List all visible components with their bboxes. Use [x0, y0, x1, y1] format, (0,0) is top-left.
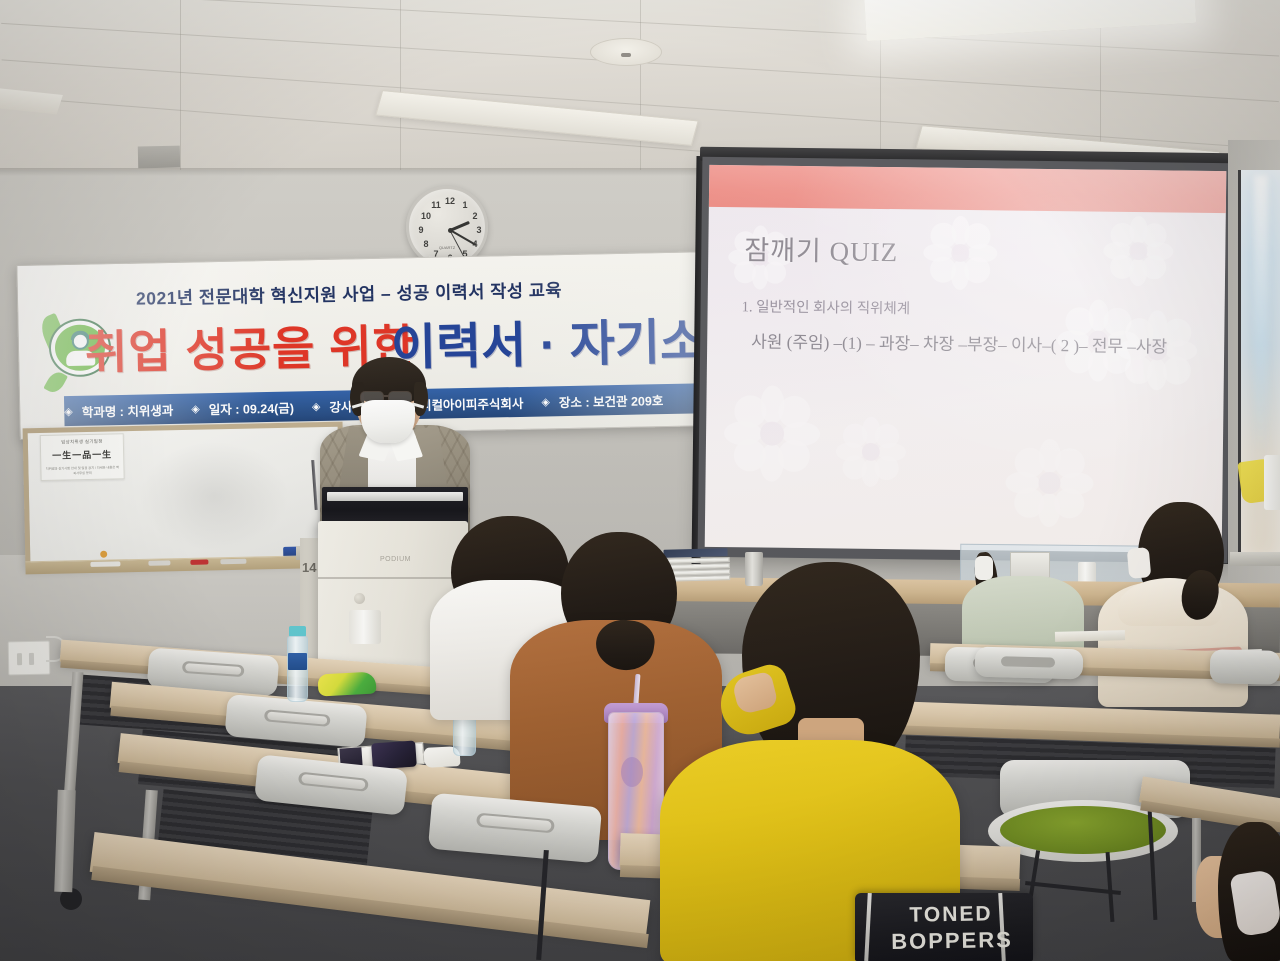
whiteboard-marker[interactable] — [148, 560, 170, 565]
whiteboard-notice: 임상치위생 실기일정 一生一品一生 치위생과 실기시험 안내 및 일정 공지 /… — [40, 433, 125, 481]
banner-info-date: 일자 : 09.24(금) — [209, 397, 295, 418]
flower-decoration-icon — [1103, 216, 1174, 287]
lecture-hall-photo: 12 1 2 3 4 5 6 7 8 9 10 11 QUARTZ 2021년 … — [0, 0, 1280, 961]
lectern-number-label: 14 — [302, 560, 316, 575]
slide-title: 잠깨기 QUIZ — [744, 228, 898, 269]
student-face-mask — [1127, 547, 1152, 579]
chair-back[interactable] — [1210, 649, 1280, 685]
bag-text-line-2: BOPPERS — [882, 927, 1022, 955]
diamond-icon: ◈ — [312, 399, 321, 412]
lectern-knob[interactable] — [354, 593, 365, 604]
chair-seat[interactable] — [1000, 806, 1166, 854]
presentation-slide: 잠깨기 QUIZ 1. 일반적인 회사의 직위체계 사원 (주임) –(1) –… — [705, 165, 1227, 553]
clock-number: 2 — [469, 211, 481, 221]
white-cylinder-object — [1264, 455, 1280, 510]
notice-title: 一生一品一生 — [44, 447, 120, 462]
clock-number: 11 — [430, 200, 442, 210]
clock-brand-text: QUARTZ — [439, 245, 455, 250]
presenter-glasses-bridge — [383, 395, 389, 397]
metal-tumbler — [745, 552, 763, 586]
clock-center-pin — [448, 228, 453, 233]
flower-decoration-icon — [923, 215, 998, 290]
tissue-roll — [349, 610, 381, 644]
smartphone[interactable] — [371, 740, 417, 769]
clock-number: 9 — [415, 225, 427, 235]
banner-title-blue: 이력서 · 자기소개서 — [390, 300, 719, 379]
tumbler-logo-dot — [621, 757, 643, 787]
flower-decoration-icon — [724, 385, 821, 482]
student-face-mask — [975, 556, 993, 580]
bottle-label — [288, 653, 307, 670]
whiteboard-shadow — [138, 440, 290, 553]
clock-number: 8 — [420, 239, 432, 249]
lectern-monitor-strip — [327, 492, 463, 501]
slide-question: 1. 일반적인 회사의 직위체계 — [742, 295, 911, 318]
notice-header: 임상치위생 실기일정 — [44, 438, 120, 446]
window-light-glow — [1254, 175, 1268, 455]
whiteboard-magnet — [100, 551, 107, 558]
clock-number: 12 — [444, 196, 456, 206]
banner-info-location: 장소 : 보건관 209호 — [559, 390, 664, 411]
notebook — [1055, 630, 1125, 642]
projection-screen: 잠깨기 QUIZ 1. 일반적인 회사의 직위체계 사원 (주임) –(1) –… — [698, 157, 1233, 563]
clock-number: 3 — [473, 225, 485, 235]
whiteboard-marker[interactable] — [90, 561, 120, 567]
lectern-seam — [318, 577, 468, 579]
banner-info-department: 학과명 : 치위생과 — [82, 399, 174, 420]
bag-text-line-1: TONED — [886, 902, 1016, 928]
desk-leg — [54, 790, 76, 893]
student-face-mask — [1229, 869, 1280, 937]
lectern-logo-text: PODIUM — [380, 556, 411, 563]
diamond-icon: ◈ — [541, 395, 550, 408]
chair-back[interactable] — [975, 647, 1084, 680]
clock-number: 1 — [459, 200, 471, 210]
window-sill — [1230, 552, 1280, 566]
slide-answer-line: 사원 (주임) –(1) – 과장– 차장 –부장– 이사–( 2 )– 전무 … — [751, 330, 1171, 358]
notice-body: 치위생과 실기시험 안내 및 일정 공지 / 자세한 내용은 학과사무실 문의 — [44, 465, 120, 477]
diamond-icon: ◈ — [64, 404, 73, 417]
clock-number: 10 — [420, 211, 432, 221]
whiteboard-marker[interactable] — [220, 559, 246, 565]
slide-header-band — [709, 165, 1226, 213]
flower-decoration-icon — [835, 416, 906, 487]
diamond-icon: ◈ — [191, 402, 200, 415]
whiteboard-marker[interactable] — [190, 560, 208, 565]
ceiling-speaker-icon — [590, 38, 662, 66]
book-cover — [663, 548, 727, 558]
whiteboard-mount-bracket — [138, 146, 180, 169]
folded-cloth — [317, 671, 376, 696]
presenter-face-mask — [361, 400, 415, 443]
wall-power-outlet — [8, 641, 51, 676]
